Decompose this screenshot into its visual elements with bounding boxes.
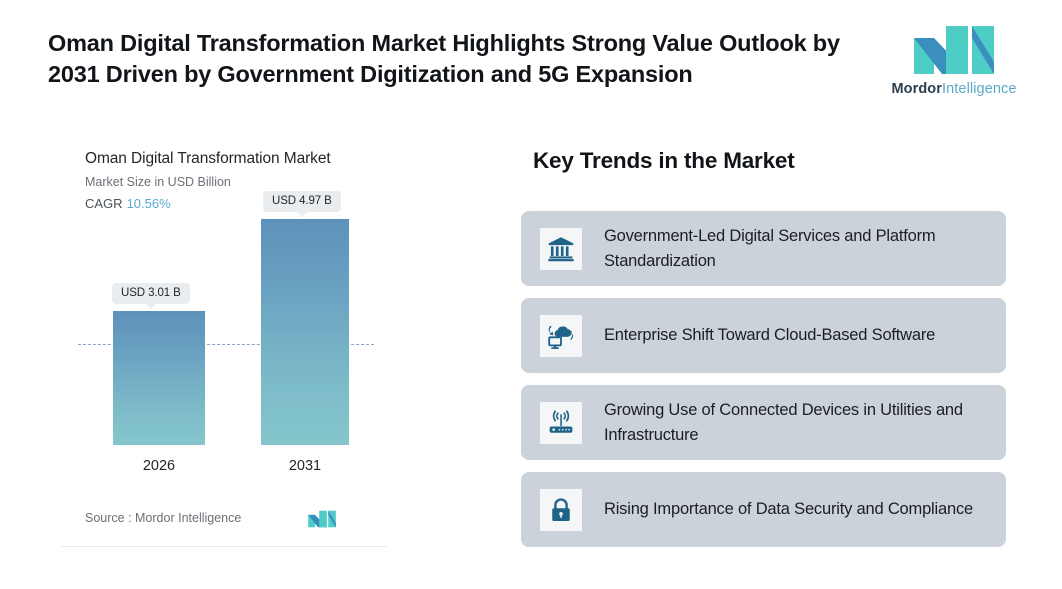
brand-word-mordor: Mordor [891, 81, 942, 97]
x-axis-tick-2026: 2026 [113, 458, 205, 474]
trend-card-data-security[interactable]: Rising Importance of Data Security and C… [521, 472, 1006, 547]
market-size-chart-card: Oman Digital Transformation Market Marke… [61, 133, 387, 547]
x-axis-tick-2031: 2031 [261, 458, 349, 474]
chart-title: Oman Digital Transformation Market [85, 150, 331, 168]
trend-card-cloud[interactable]: Enterprise Shift Toward Cloud-Based Soft… [521, 298, 1006, 373]
cagr-label: CAGR [85, 196, 123, 211]
trend-card-connected-devices[interactable]: Growing Use of Connected Devices in Util… [521, 385, 1006, 460]
bar-2031 [261, 219, 349, 445]
chart-plot-area: USD 3.01 B USD 4.97 B 2026 2031 [61, 219, 387, 484]
chart-source-row: Source : Mordor Intelligence [85, 510, 367, 528]
trend-label: Rising Importance of Data Security and C… [604, 497, 973, 522]
cloud-computer-icon [540, 315, 582, 357]
brand-logo: MordorIntelligence [888, 24, 1020, 97]
chart-cagr: CAGR10.56% [85, 196, 171, 211]
trend-label: Growing Use of Connected Devices in Util… [604, 398, 990, 448]
trends-heading: Key Trends in the Market [533, 148, 795, 174]
mordor-m-logo-icon [912, 24, 996, 76]
page-header: Oman Digital Transformation Market Highl… [0, 0, 1062, 118]
page-title: Oman Digital Transformation Market Highl… [48, 28, 878, 90]
bank-icon [540, 228, 582, 270]
source-text: Source : Mordor Intelligence [85, 511, 241, 525]
bar-value-label-2026: USD 3.01 B [112, 283, 190, 304]
brand-wordmark: MordorIntelligence [888, 81, 1020, 97]
router-wireless-icon [540, 402, 582, 444]
trend-label: Enterprise Shift Toward Cloud-Based Soft… [604, 323, 935, 348]
bar-value-label-2031: USD 4.97 B [263, 191, 341, 212]
lock-icon [540, 489, 582, 531]
trend-card-government[interactable]: Government-Led Digital Services and Plat… [521, 211, 1006, 286]
bar-2026 [113, 311, 205, 445]
brand-word-intelligence: Intelligence [942, 81, 1017, 97]
cagr-value: 10.56% [127, 196, 171, 211]
key-trends-panel: Key Trends in the Market Government-Led … [521, 133, 1006, 547]
trend-label: Government-Led Digital Services and Plat… [604, 224, 990, 274]
mordor-m-logo-icon [307, 510, 337, 528]
chart-subtitle: Market Size in USD Billion [85, 175, 231, 189]
